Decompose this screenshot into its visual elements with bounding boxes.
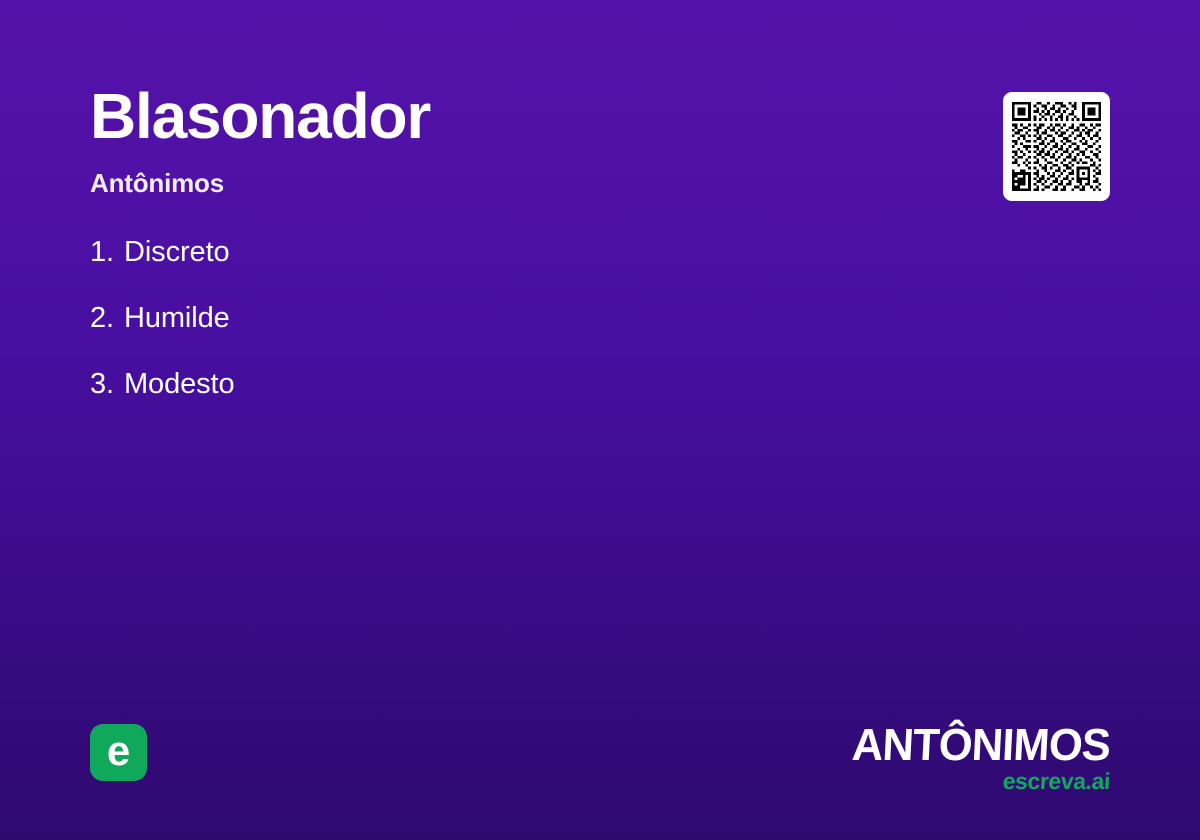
page-title: Blasonador (90, 84, 910, 148)
qr-code-icon (1012, 101, 1101, 192)
wordmark-secondary-text: escreva.ai (809, 770, 1110, 793)
brand-wordmark: ANTÔNIMOS escreva.ai (810, 722, 1110, 793)
list-item-word: Modesto (124, 370, 235, 399)
wordmark-primary-text: ANTÔNIMOS (818, 722, 1111, 767)
escreva-logo-badge[interactable]: e (90, 724, 147, 781)
header-block: Blasonador Antônimos (90, 84, 910, 196)
list-item-index: 2. (90, 304, 114, 333)
antonym-card: Blasonador Antônimos 1. Discreto 2. Humi… (0, 0, 1200, 840)
list-item-index: 3. (90, 370, 114, 399)
qr-code-card[interactable] (1003, 92, 1110, 201)
list-item-index: 1. (90, 238, 114, 267)
list-item-word: Discreto (124, 238, 230, 267)
list-item-word: Humilde (124, 304, 230, 333)
list-item: 1. Discreto (90, 238, 790, 304)
brand-badge-letter: e (107, 730, 130, 772)
list-item: 3. Modesto (90, 370, 790, 436)
antonym-list: 1. Discreto 2. Humilde 3. Modesto (90, 238, 790, 436)
section-label: Antônimos (90, 170, 910, 196)
list-item: 2. Humilde (90, 304, 790, 370)
